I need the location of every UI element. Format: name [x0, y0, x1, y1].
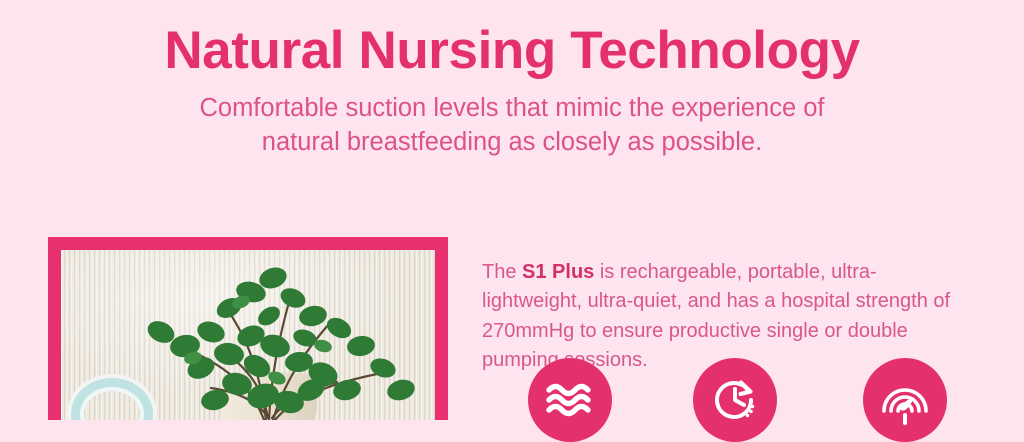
page-subtitle-line-1: Comfortable suction levels that mimic th… — [199, 94, 824, 122]
clock-timer-icon — [711, 376, 759, 424]
feature-badge-timer[interactable] — [693, 358, 777, 442]
product-name: S1 Plus — [522, 261, 594, 283]
page-title: Natural Nursing Technology — [0, 22, 1024, 79]
feature-icon-row — [482, 358, 992, 420]
feature-badge-massage-mode[interactable] — [528, 358, 612, 442]
waves-icon — [545, 380, 595, 420]
photo-frame — [48, 237, 448, 420]
photo-image — [61, 250, 435, 420]
page-subtitle: Comfortable suction levels that mimic th… — [140, 92, 884, 159]
page-subtitle-line-2: natural breastfeeding as closely as poss… — [140, 126, 884, 160]
page-root: Natural Nursing Technology Comfortable s… — [0, 0, 1024, 420]
feature-badge-suction-strength[interactable] — [863, 358, 947, 442]
body-lead: The — [482, 261, 522, 283]
gauge-icon — [880, 375, 930, 425]
